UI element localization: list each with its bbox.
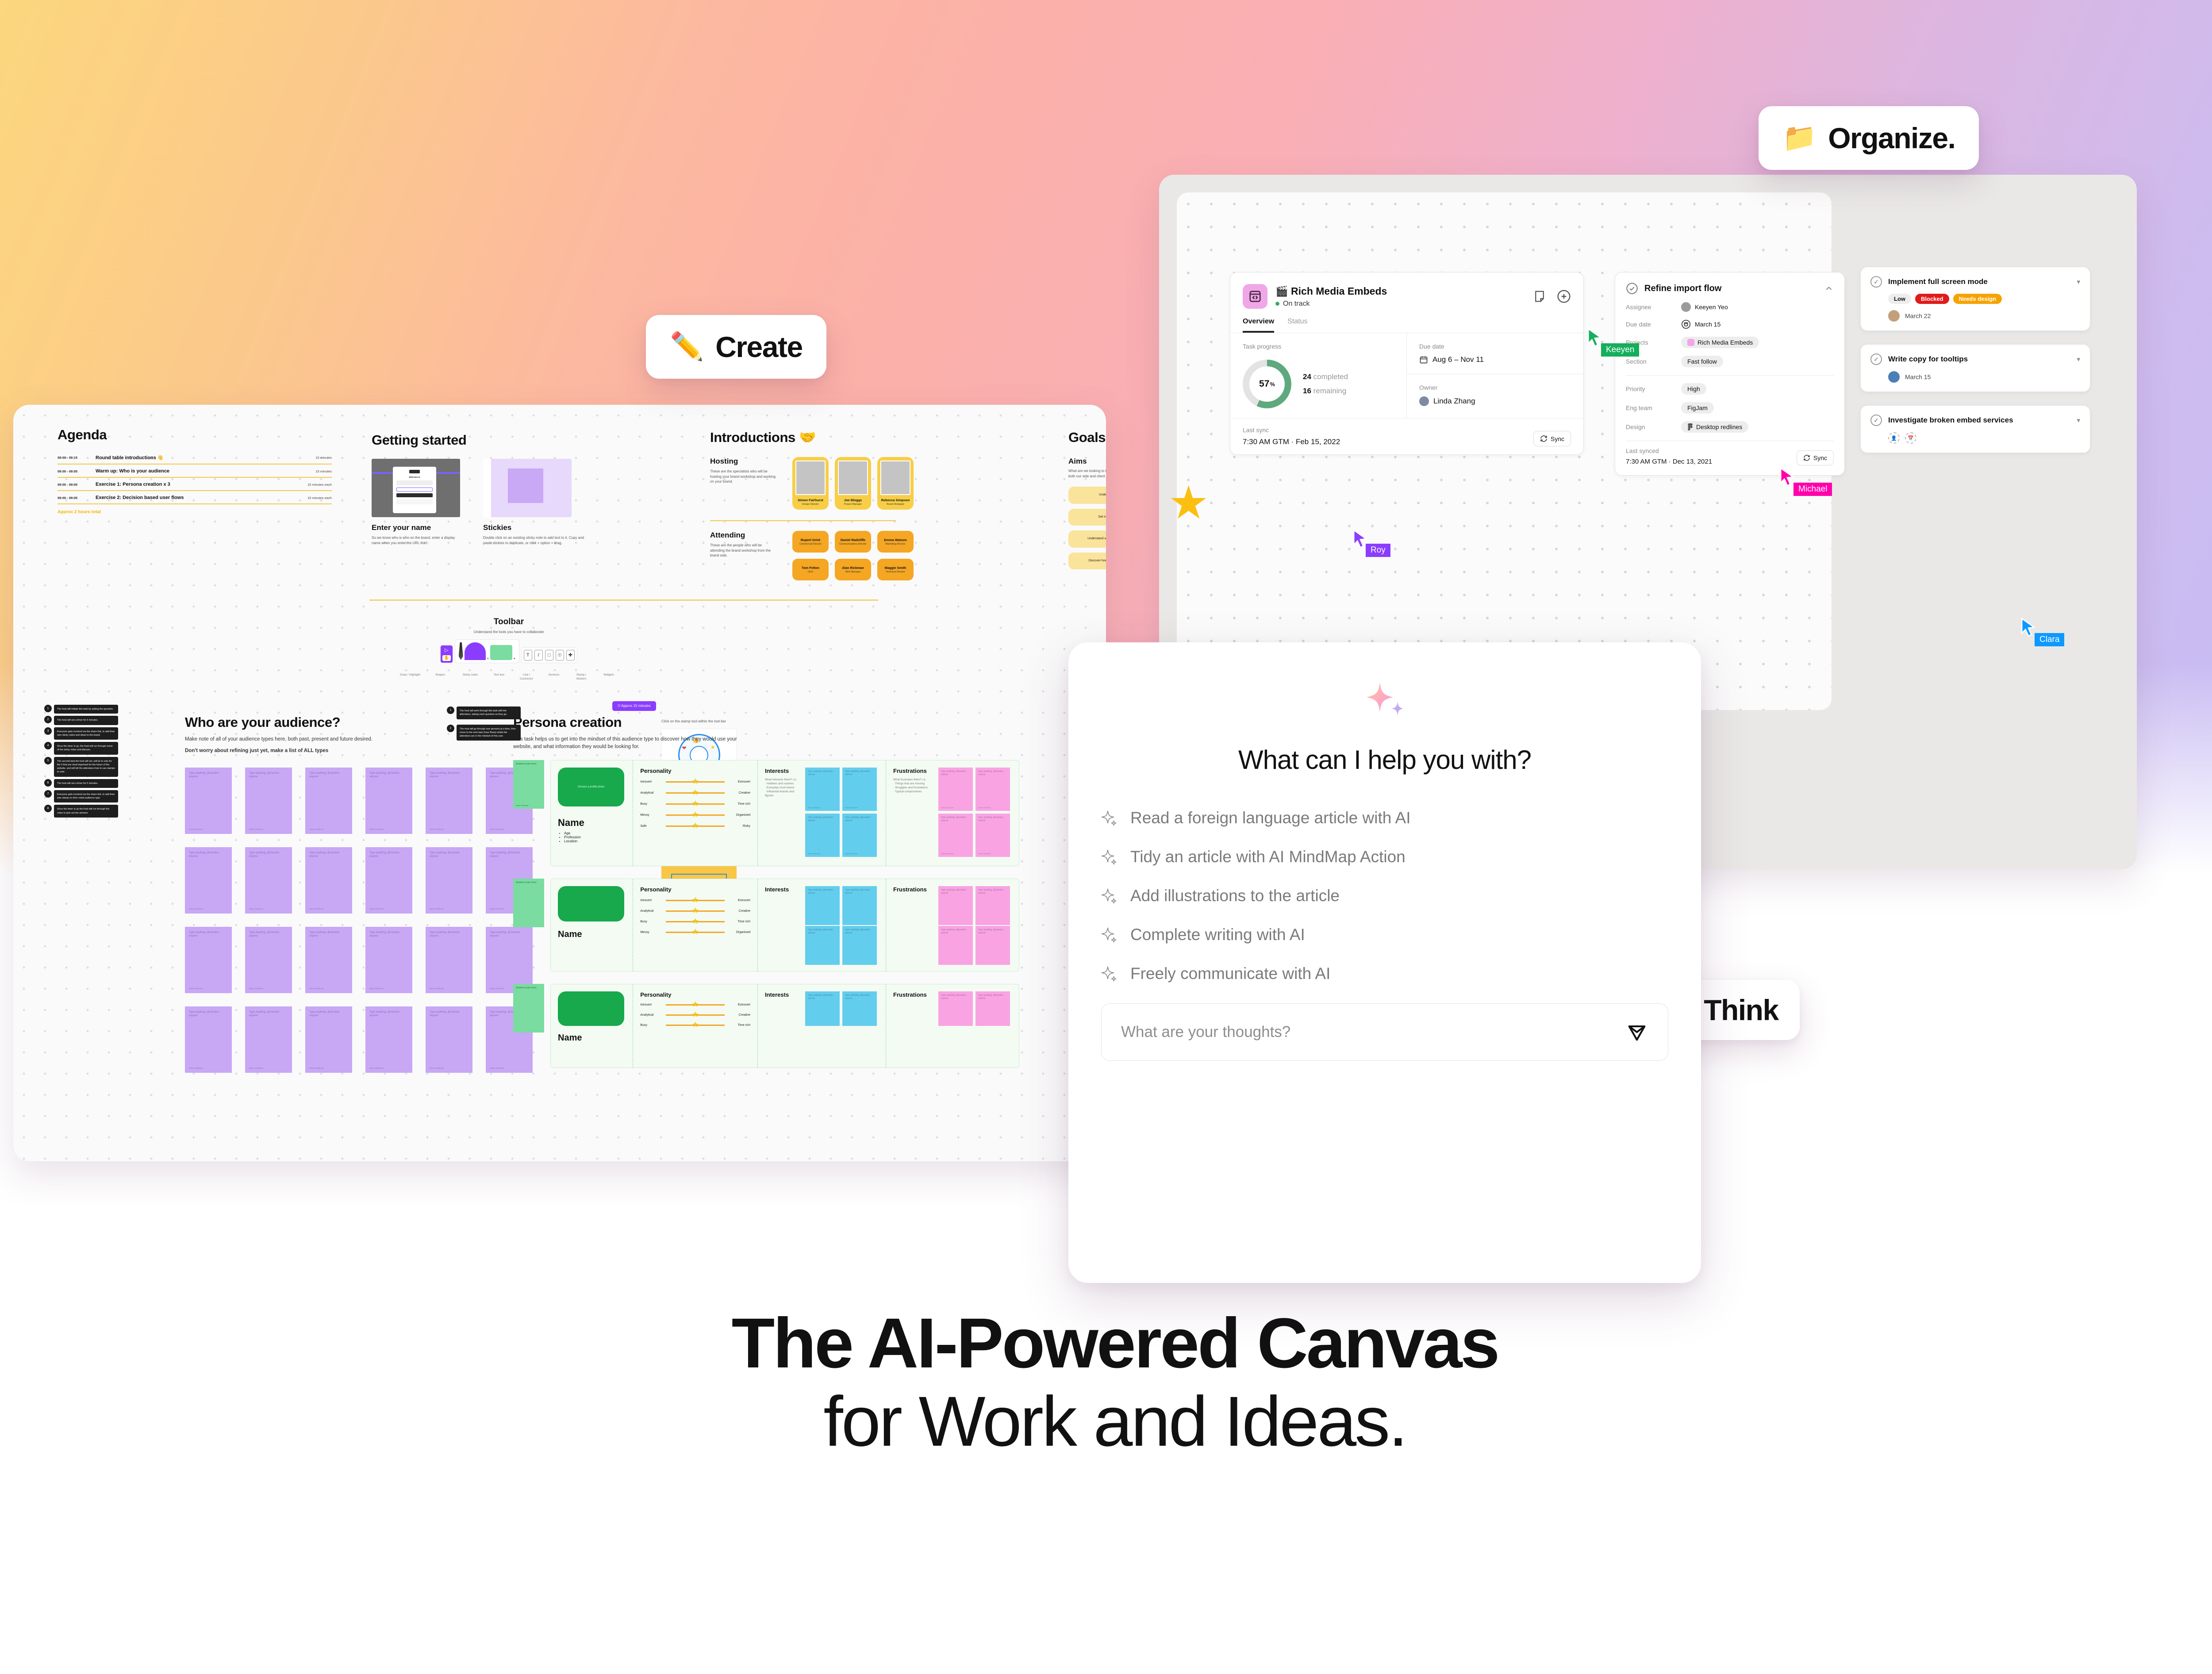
sticky-signature: Simon Fairhurst [941, 806, 953, 809]
person-role: Marketing Director [880, 543, 911, 545]
sticky-placeholder: Type anything, @mention anyone [978, 994, 1007, 1000]
introductions-section: Introductions 🤝 Hosting These are the sp… [710, 429, 1029, 580]
tab-overview[interactable]: Overview [1243, 318, 1274, 333]
sticky-note[interactable]: Type anything, @mention anyoneSimon Fair… [426, 927, 472, 993]
audience-type-chip[interactable]: (Audience type here) [513, 879, 544, 927]
sticky-signature: Simon Fairhurst [516, 804, 528, 806]
slider-right-label: Organised [727, 814, 750, 817]
sticky-note[interactable]: Type anything, @mention anyoneSimon Fair… [938, 768, 973, 811]
field-value: March 15 [1695, 321, 1720, 328]
star-marker: ★ [692, 928, 699, 936]
line-tool-icon[interactable]: / [534, 650, 543, 660]
field-label: Eng team [1626, 404, 1681, 411]
profile-photo-placeholder[interactable]: Choose a profile photo [558, 768, 624, 806]
task-card[interactable]: ✓ Implement full screen mode ▾ Low Block… [1860, 267, 2090, 331]
interests-heading: Interests [765, 991, 801, 998]
stamp-tool-icon[interactable]: ☉ [556, 650, 564, 660]
headline-line-1: The AI-Powered Canvas [0, 1305, 2212, 1382]
field-eng-team[interactable]: Eng team FigJam [1626, 402, 1834, 414]
note-icon[interactable] [1533, 290, 1546, 303]
sticky-placeholder: Type anything, @mention anyone [309, 851, 348, 859]
field-label: Due date [1626, 321, 1681, 328]
chevron-down-icon[interactable]: ▾ [2077, 355, 2080, 363]
sticky-placeholder: Type anything, @mention anyone [808, 889, 837, 895]
sticky-placeholder: Type anything, @mention anyone [941, 816, 970, 822]
flow-step: Everyone gets involved via the share lin… [54, 790, 118, 803]
sticky-note[interactable]: Type anything, @mention anyone [842, 991, 877, 1026]
assignee-placeholder-icon[interactable]: 👤 [1888, 432, 1900, 444]
persona-field: Profession [564, 835, 626, 839]
slider-right-label: Creative [727, 791, 750, 795]
personality-heading: Personality [640, 768, 750, 774]
status-dot-icon [1275, 302, 1279, 306]
sticky-note[interactable]: Type anything, @mention anyone [842, 926, 877, 965]
tool-label: Sections [545, 673, 563, 681]
sticky-note[interactable]: Type anything, @mention anyoneSimon Fair… [365, 1006, 412, 1073]
personality-slider[interactable]: Safe★Risky [640, 825, 750, 828]
person-card[interactable]: Emma Watson Marketing Director [877, 531, 914, 553]
text-tool-icon[interactable]: T [524, 650, 532, 660]
code-embed-icon [1243, 284, 1267, 309]
star-marker: ★ [692, 799, 699, 807]
sticky-signature: Simon Fairhurst [189, 908, 203, 910]
person-card[interactable]: Alan Rickman SEO Manager [835, 559, 871, 580]
hosting-body: These are the specialists who will be ho… [710, 469, 776, 484]
sticky-signature: Simon Fairhurst [369, 908, 384, 910]
sticky-signature: Simon Fairhurst [369, 987, 384, 990]
personality-slider[interactable]: Introvert★Extrovert [640, 1003, 750, 1006]
agenda-time: 09:00 - 09:05 [58, 496, 96, 500]
audience-chip-label: (Audience type here) [516, 763, 541, 765]
agenda-title: Agenda [58, 427, 332, 443]
flow-step-number: 4 [44, 742, 52, 749]
sticky-signature: Simon Fairhurst [369, 1067, 384, 1069]
field-value: FigJam [1687, 404, 1708, 411]
flow-step: The second task the host will set, will … [54, 757, 118, 777]
sticky-note[interactable]: Type anything, @mention anyoneSimon Fair… [305, 768, 352, 834]
slider-right-label: Extrovert [727, 1003, 750, 1006]
task-progress-label: Task progress [1243, 343, 1394, 350]
personality-slider[interactable]: Introvert★Extrovert [640, 780, 750, 783]
sticky-note[interactable]: Type anything, @mention anyone [805, 926, 840, 965]
sync-button[interactable]: Sync [1533, 431, 1571, 446]
timer-badge[interactable]: ⏱ Approx 15 minutes [612, 701, 656, 711]
sticky-signature: Simon Fairhurst [430, 828, 444, 830]
eng-team-chip[interactable]: FigJam [1681, 402, 1714, 414]
sticky-note[interactable]: Type anything, @mention anyone [842, 886, 877, 925]
star-marker: ★ [692, 1021, 699, 1029]
sticky-signature: Simon Fairhurst [430, 987, 444, 990]
create-pill: ✏️ Create [646, 315, 826, 379]
slider-right-label: Extrovert [727, 780, 750, 783]
check-circle-icon[interactable] [1626, 282, 1638, 295]
personality-slider[interactable]: Analytical★Creative [640, 791, 750, 795]
field-projects[interactable]: Projects Rich Media Embeds [1626, 337, 1834, 348]
check-circle-icon[interactable]: ✓ [1870, 353, 1882, 365]
send-icon[interactable] [1625, 1021, 1648, 1044]
agenda-row: 09:00 - 09:15 Round table introductions … [58, 451, 332, 465]
sticky-placeholder: Type anything, @mention anyone [941, 889, 970, 895]
sticky-placeholder: Type anything, @mention anyone [309, 931, 348, 938]
sticky-note[interactable]: Type anything, @mention anyoneSimon Fair… [426, 768, 472, 834]
audience-type-chip[interactable]: (Audience type here) [513, 984, 544, 1033]
sticky-note[interactable]: Type anything, @mention anyoneSimon Fair… [245, 847, 292, 914]
sticky-placeholder: Type anything, @mention anyone [369, 1010, 408, 1018]
person-name: Alan Rickman [837, 566, 868, 570]
frustrations-heading: Frustrations [893, 768, 934, 774]
personality-slider[interactable]: Analytical★Creative [640, 1014, 750, 1017]
person-role: Commercial Director [795, 543, 826, 545]
profile-photo-placeholder[interactable] [558, 886, 624, 921]
ai-suggestion-item[interactable]: Complete writing with AI [1101, 925, 1668, 944]
project-title: 🎬 Rich Media Embeds [1275, 285, 1525, 297]
sticky-note[interactable]: Type anything, @mention anyone [975, 886, 1010, 925]
tool-label: Sticky notes [460, 673, 480, 681]
sticky-placeholder: Type anything, @mention anyone [309, 772, 348, 779]
introductions-title: Introductions 🤝 [710, 429, 1029, 445]
calendar-icon [1681, 319, 1691, 329]
toolbar-select-tool[interactable]: ▷ ✋ [440, 645, 453, 663]
field-section[interactable]: Section Fast follow [1626, 356, 1834, 367]
remaining-count: 16 [1303, 387, 1311, 395]
sticky-placeholder: Type anything, @mention anyone [189, 1010, 228, 1018]
sticky-note[interactable]: Type anything, @mention anyoneSimon Fair… [365, 847, 412, 914]
tool-label: Stamp / Stickers [572, 673, 590, 681]
welcome-modal-title: Welcome to [393, 476, 436, 478]
status-badge[interactable]: Blocked [1915, 294, 1949, 304]
field-assignee[interactable]: Assignee Keeyen Yeo [1626, 302, 1834, 312]
field-priority[interactable]: Priority High [1626, 383, 1834, 395]
ai-prompt-input[interactable]: What are your thoughts? [1101, 1003, 1668, 1061]
sticky-note[interactable]: Type anything, @mention anyone [975, 926, 1010, 965]
completed-count: 24 [1303, 372, 1311, 381]
sticky-signature: Simon Fairhurst [249, 908, 263, 910]
cursor-clara: Clara [2020, 617, 2037, 640]
agenda-row: 09:00 - 09:05 Warm up: Who is your audie… [58, 465, 332, 478]
person-card[interactable]: Joe Bloggs Project Manager [835, 457, 871, 510]
sticky-signature: Simon Fairhurst [978, 806, 991, 809]
persona-canvas[interactable]: Name Personality Introvert★Extrovert Ana… [550, 879, 1019, 971]
persona-row: (Audience type here) Simon Fairhurst Cho… [513, 760, 1019, 866]
divider [1626, 441, 1834, 441]
slider-left-label: Introvert [640, 780, 663, 783]
ai-suggestion-label: Complete writing with AI [1130, 925, 1305, 944]
task-card[interactable]: ✓ Investigate broken embed services ▾ 👤 … [1860, 405, 2090, 453]
ai-suggestion-item[interactable]: Tidy an article with AI MindMap Action [1101, 848, 1668, 866]
sticky-placeholder: Type anything, @mention anyone [941, 994, 970, 1000]
priority-chip[interactable]: High [1681, 383, 1706, 395]
project-chip[interactable]: Rich Media Embeds [1681, 337, 1759, 348]
sticky-signature: Simon Fairhurst [941, 852, 953, 855]
sticky-placeholder: Type anything, @mention anyone [369, 931, 408, 938]
ai-suggestion-item[interactable]: Read a foreign language article with AI [1101, 809, 1668, 827]
plus-icon[interactable] [1557, 289, 1571, 303]
personality-slider[interactable]: Busy★Time rich [640, 920, 750, 923]
audience-chip-label: (Audience type here) [516, 987, 541, 989]
slider-right-label: Creative [727, 1014, 750, 1017]
goals-title: Goals 📖 [1068, 429, 1106, 445]
sticky-note[interactable]: Type anything, @mention anyone [805, 991, 840, 1026]
sticky-note[interactable]: Type anything, @mention anyoneSimon Fair… [805, 768, 840, 811]
sparkle-icon [1101, 809, 1119, 827]
sync-icon [1540, 435, 1548, 442]
shape-tool-icon[interactable] [465, 642, 486, 660]
agenda-name: Exercise 2: Decision based user flows [96, 495, 307, 500]
sticky-signature: Simon Fairhurst [430, 1067, 444, 1069]
person-card[interactable]: Rupert Grint Commercial Director [792, 531, 829, 553]
gs-item-heading: Stickies [483, 523, 585, 532]
goal-note[interactable]: Understand your target audience [1068, 487, 1106, 504]
sticky-note[interactable]: Type anything, @mention anyoneSimon Fair… [805, 814, 840, 857]
person-name: Daniel Radcliffe [837, 538, 868, 542]
refine-title: Refine import flow [1644, 284, 1818, 294]
frustrations-heading: Frustrations [893, 991, 934, 998]
person-card[interactable]: Daniel Radcliffe Communications Director [835, 531, 871, 553]
page-headline: The AI-Powered Canvas for Work and Ideas… [0, 1305, 2212, 1461]
field-due-date[interactable]: Due date March 15 [1626, 319, 1834, 329]
star-sticker[interactable]: ★ [1168, 480, 1209, 526]
frustrations-body: What frustrates them? i.e. · Things that… [893, 778, 934, 794]
sticky-note[interactable]: Type anything, @mention anyoneSimon Fair… [305, 1006, 352, 1073]
sticky-note[interactable]: Type anything, @mention anyoneSimon Fair… [975, 768, 1010, 811]
sticky-tool-icon[interactable] [490, 645, 512, 660]
gs-item-body: So we know who is who on the board, ente… [372, 535, 460, 545]
avatar [1888, 310, 1900, 322]
aims-body: What are we looking to learn or understa… [1068, 468, 1106, 479]
sticky-note[interactable]: Type anything, @mention anyoneSimon Fair… [305, 927, 352, 993]
personality-slider[interactable]: Analytical★Creative [640, 910, 750, 913]
due-date-label: Due date [1419, 343, 1571, 350]
persona-name-heading: Name [558, 817, 626, 829]
sticky-note[interactable]: Type anything, @mention anyoneSimon Fair… [185, 847, 232, 914]
flow-step-number: 3 [44, 727, 52, 735]
agenda-time: 09:00 - 09:05 [58, 469, 96, 473]
goal-note[interactable]: Understand what features the user needs … [1068, 530, 1106, 548]
sticky-note[interactable]: Type anything, @mention anyoneSimon Fair… [245, 1006, 292, 1073]
slider-right-label: Creative [727, 910, 750, 913]
progress-percent-suffix: % [1270, 381, 1275, 388]
slider-left-label: Messy [640, 814, 663, 817]
goal-note[interactable]: Get into the mindset of your users [1068, 509, 1106, 526]
sticky-note[interactable]: Type anything, @mention anyoneSimon Fair… [426, 1006, 472, 1073]
field-label: Priority [1626, 385, 1681, 392]
task-date: March 22 [1905, 312, 1931, 319]
sticky-placeholder: Type anything, @mention anyone [845, 929, 874, 935]
agenda-row: 09:00 - 09:05 Exercise 2: Decision based… [58, 491, 332, 504]
project-overview-card[interactable]: 🎬 Rich Media Embeds On track Overview St… [1230, 272, 1584, 455]
sticky-note[interactable]: Type anything, @mention anyoneSimon Fair… [185, 927, 232, 993]
sticky-note[interactable]: Type anything, @mention anyone [975, 991, 1010, 1026]
completed-label: completed [1313, 372, 1348, 381]
personality-slider[interactable]: Busy★Time rich [640, 802, 750, 806]
task-title: Investigate broken embed services [1888, 416, 2070, 425]
sticky-note[interactable]: Type anything, @mention anyoneSimon Fair… [185, 1006, 232, 1073]
tool-label: Draw / Highlight [400, 673, 420, 681]
person-card[interactable]: Simon Fairhurst Design Director [792, 457, 829, 510]
field-design[interactable]: Design Desktop redlines [1626, 421, 1834, 433]
slider-left-label: Introvert [640, 899, 663, 902]
remaining-label: remaining [1313, 387, 1347, 395]
status-badge[interactable]: Low [1888, 294, 1911, 304]
sticky-signature: Simon Fairhurst [490, 987, 504, 990]
ai-panel-title: What can I help you with? [1101, 745, 1668, 775]
agenda-time: 09:00 - 09:05 [58, 483, 96, 487]
person-role: Technical Director [880, 571, 911, 573]
sparkle-icon [1101, 965, 1119, 983]
sticky-note[interactable]: Type anything, @mention anyoneSimon Fair… [842, 814, 877, 857]
sticky-signature: Simon Fairhurst [309, 828, 323, 830]
ai-suggestion-item[interactable]: Freely communicate with AI [1101, 964, 1668, 983]
flow-step: The host will work through this task wit… [457, 706, 521, 719]
gs-item-body: Double click on an existing sticky note … [483, 535, 585, 545]
flow-step: The host will initiate this task by aski… [54, 705, 118, 714]
check-circle-icon[interactable]: ✓ [1870, 415, 1882, 426]
sticky-note[interactable]: Type anything, @mention anyone [805, 886, 840, 925]
date-placeholder-icon[interactable]: 📅 [1905, 432, 1916, 444]
person-card[interactable]: Maggie Smith Technical Director [877, 559, 914, 580]
widget-tool-icon[interactable]: ✚ [566, 650, 575, 660]
slider-right-label: Time rich [727, 1024, 750, 1027]
toolbar-divider [369, 599, 878, 601]
person-name: Tom Felton [795, 566, 826, 570]
sticky-placeholder: Type anything, @mention anyone [808, 994, 837, 1000]
ai-input-placeholder: What are your thoughts? [1121, 1023, 1290, 1041]
sticky-placeholder: Type anything, @mention anyone [249, 851, 288, 859]
figma-icon [1687, 423, 1693, 430]
chevron-up-icon[interactable] [1824, 284, 1834, 293]
status-badge[interactable]: Needs design [1953, 294, 2002, 304]
sticky-placeholder: Type anything, @mention anyone [430, 772, 469, 779]
persona-name-heading: Name [558, 1033, 626, 1043]
sticky-note[interactable]: Type anything, @mention anyoneSimon Fair… [365, 768, 412, 834]
refine-task-card[interactable]: Refine import flow Assignee Keeyen Yeo D… [1615, 272, 1845, 476]
flow-step-number: 5 [44, 757, 52, 764]
sticky-signature: Simon Fairhurst [309, 908, 323, 910]
design-chip[interactable]: Desktop redlines [1681, 421, 1748, 433]
personality-slider[interactable]: Messy★Organised [640, 814, 750, 817]
sticky-note[interactable]: Type anything, @mention anyoneSimon Fair… [938, 814, 973, 857]
getting-started-section: Getting started Welcome to Enter your na… [372, 432, 619, 545]
person-role: CEO [795, 571, 826, 573]
chevron-down-icon[interactable]: ▾ [2077, 278, 2080, 286]
sticky-note[interactable]: Type anything, @mention anyone [938, 886, 973, 925]
sparkle-icon [1101, 848, 1119, 866]
audience-type-chip[interactable]: (Audience type here) Simon Fairhurst [513, 760, 544, 809]
goals-section: Goals 📖 Aims What are we looking to lear… [1068, 429, 1106, 588]
sticky-placeholder: Type anything, @mention anyone [430, 1010, 469, 1018]
person-card[interactable]: Tom Felton CEO [792, 559, 829, 580]
sticky-placeholder: Type anything, @mention anyone [369, 772, 408, 779]
last-synced-label: Last synced [1626, 447, 1712, 454]
goal-note[interactable]: Discover how the user will interact with… [1068, 553, 1106, 570]
last-synced-value: 7:30 AM GTM · Dec 13, 2021 [1626, 458, 1712, 465]
stickies-screenshot [483, 459, 572, 517]
person-name: Rupert Grint [795, 538, 826, 542]
personality-slider[interactable]: Introvert★Extrovert [640, 899, 750, 902]
workshop-board-panel[interactable]: Agenda 09:00 - 09:15 Round table introdu… [13, 405, 1106, 1161]
headline-line-2: for Work and Ideas. [0, 1382, 2212, 1461]
sticky-note[interactable]: Type anything, @mention anyoneSimon Fair… [842, 768, 877, 811]
sticky-signature: Simon Fairhurst [845, 852, 857, 855]
sparkle-icon [1101, 926, 1119, 944]
person-name: Joe Bloggs [837, 498, 868, 502]
cursor-label: Clara [2035, 633, 2064, 646]
sticky-placeholder: Type anything, @mention anyone [978, 889, 1007, 895]
persona-canvas[interactable]: Name Personality Introvert★Extrovert Ana… [550, 984, 1019, 1068]
sticky-note[interactable]: Type anything, @mention anyoneSimon Fair… [245, 927, 292, 993]
toolbar-extra-tools[interactable]: T / □ ☉ ✚ [521, 647, 577, 663]
owner-value: Linda Zhang [1433, 397, 1475, 406]
person-name: Maggie Smith [880, 566, 911, 570]
agenda-duration: 15 minutes [315, 456, 332, 460]
section-chip[interactable]: Fast follow [1681, 356, 1723, 367]
tab-status[interactable]: Status [1287, 318, 1307, 333]
toolbar-title: Toolbar [372, 617, 646, 627]
sticky-note[interactable]: Type anything, @mention anyoneSimon Fair… [975, 814, 1010, 857]
personality-slider[interactable]: Messy★Organised [640, 931, 750, 934]
sticky-placeholder: Type anything, @mention anyone [845, 816, 874, 822]
person-card[interactable]: Rebecca Simpson Brand Strategist [877, 457, 914, 510]
persona-field: Location [564, 839, 626, 843]
welcome-modal: Welcome to [393, 467, 436, 513]
progress-percent: 57 [1259, 379, 1269, 389]
slider-right-label: Risky [727, 825, 750, 828]
person-role: Brand Strategist [880, 503, 911, 506]
sticky-note[interactable]: Type anything, @mention anyoneSimon Fair… [185, 768, 232, 834]
sticky-note[interactable]: Type anything, @mention anyoneSimon Fair… [365, 927, 412, 993]
flow-step-number: 7 [44, 790, 52, 798]
field-value: Fast follow [1687, 358, 1717, 365]
sticky-placeholder: Type anything, @mention anyone [189, 931, 228, 938]
sticky-placeholder: Type anything, @mention anyone [978, 770, 1007, 776]
personality-slider[interactable]: Busy★Time rich [640, 1024, 750, 1027]
profile-photo-placeholder[interactable] [558, 991, 624, 1026]
agenda-row: 09:00 - 09:05 Exercise 1: Persona creati… [58, 478, 332, 491]
avatar [1419, 396, 1429, 406]
sticky-note[interactable]: Type anything, @mention anyoneSimon Fair… [305, 847, 352, 914]
sticky-note[interactable]: Type anything, @mention anyoneSimon Fair… [426, 847, 472, 914]
sticky-signature: Simon Fairhurst [978, 852, 991, 855]
flow-step-number: 1 [447, 706, 454, 714]
frustrations-heading: Frustrations [893, 886, 934, 893]
agenda-time: 09:00 - 09:15 [58, 456, 96, 460]
ai-suggestion-item[interactable]: Add illustrations to the article [1101, 887, 1668, 905]
pen-tool-icon[interactable] [459, 642, 463, 660]
sync-button[interactable]: Sync [1797, 450, 1834, 465]
think-label: Think [1704, 993, 1778, 1027]
organize-label: Organize. [1828, 121, 1955, 155]
photo-cta: Choose a profile photo [578, 786, 604, 788]
ai-assistant-panel[interactable]: What can I help you with? Read a foreign… [1068, 642, 1701, 1283]
persona-name-heading: Name [558, 929, 626, 940]
sticky-placeholder: Type anything, @mention anyone [189, 772, 228, 779]
chevron-down-icon[interactable]: ▾ [2077, 416, 2080, 424]
sticky-note[interactable]: Type anything, @mention anyone [938, 926, 973, 965]
flow-step: Once the timer is up, the host will run … [54, 742, 118, 755]
star-marker: ★ [692, 906, 699, 914]
flow-step: The host will set a timer for 5 minutes. [54, 779, 118, 788]
project-status: On track [1275, 300, 1525, 308]
task-card[interactable]: ✓ Write copy for tooltips ▾ March 15 [1860, 344, 2090, 392]
sticky-note[interactable]: Type anything, @mention anyone [938, 991, 973, 1026]
sticky-signature: Simon Fairhurst [490, 908, 504, 910]
star-marker: ★ [692, 917, 699, 925]
persona-canvas[interactable]: Choose a profile photo Name Age Professi… [550, 760, 1019, 866]
sticky-note[interactable]: Type anything, @mention anyoneSimon Fair… [245, 768, 292, 834]
check-circle-icon[interactable]: ✓ [1870, 276, 1882, 288]
progress-donut: 57 % [1243, 360, 1291, 408]
section-tool-icon[interactable]: □ [545, 650, 553, 660]
